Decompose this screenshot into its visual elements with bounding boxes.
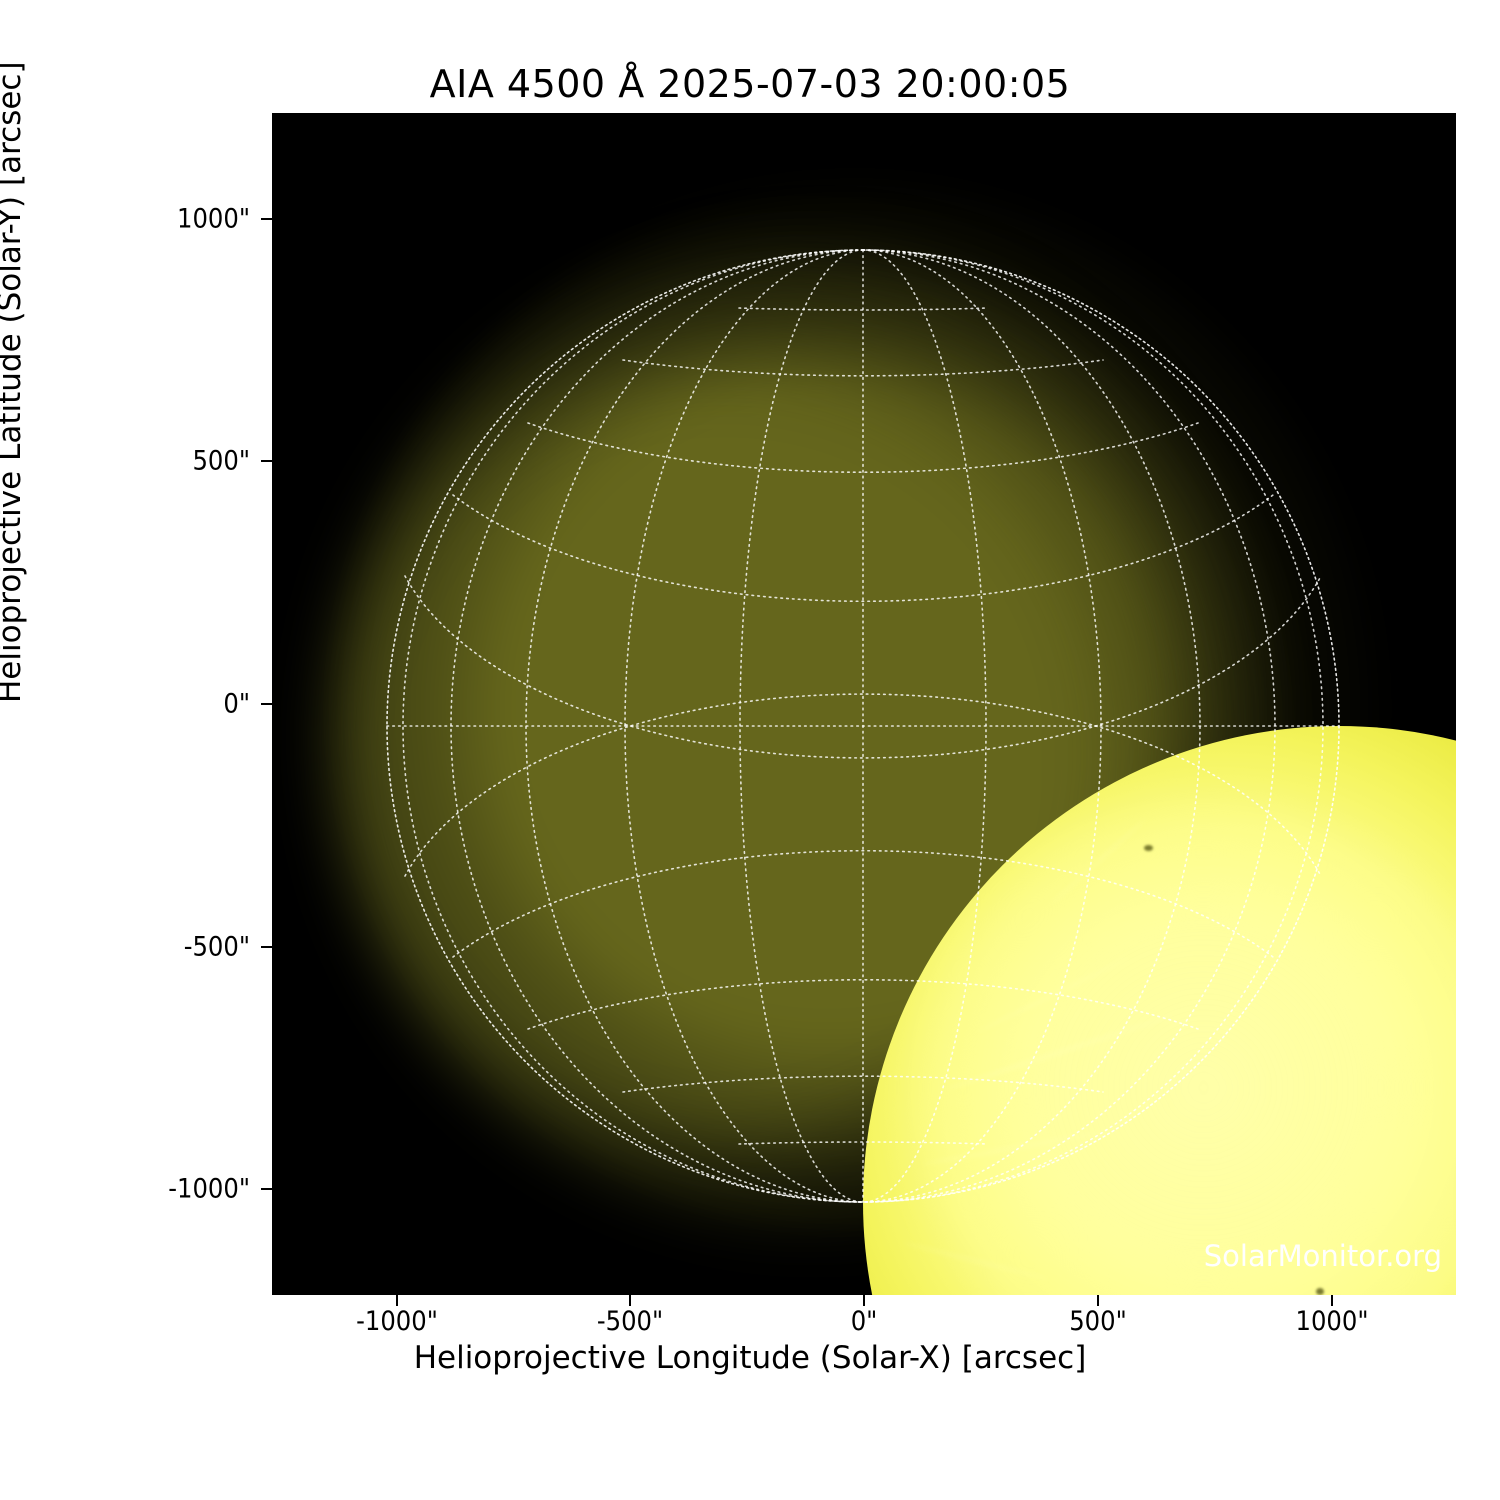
x-tick-label: 500": [1069, 1306, 1127, 1337]
x-tick: [629, 1295, 631, 1306]
parallel-60N: [623, 360, 1103, 376]
x-tick-label: 1000": [1296, 1306, 1369, 1337]
x-tick: [1097, 1295, 1099, 1306]
parallel-15N: [405, 576, 1321, 758]
parallel-45N: [528, 423, 1198, 472]
meridian-30W: [625, 250, 863, 1202]
meridian-15W: [740, 250, 863, 1202]
y-tick: [261, 946, 272, 948]
y-tick-label: -1000": [110, 1174, 250, 1205]
x-tick-label: 0": [851, 1306, 878, 1337]
x-tick-label: -1000": [356, 1306, 438, 1337]
y-axis-title: Helioprojective Latitude (Solar-Y) [arcs…: [0, 61, 28, 703]
x-tick: [863, 1295, 865, 1306]
parallel-30N: [453, 495, 1273, 601]
x-axis-title: Helioprojective Longitude (Solar-X) [arc…: [0, 1340, 1500, 1376]
x-tick: [1331, 1295, 1333, 1306]
y-tick-label: 0": [110, 689, 250, 720]
y-tick: [261, 703, 272, 705]
plot-area[interactable]: SolarMonitor.org: [272, 113, 1456, 1295]
watermark: SolarMonitor.org: [1204, 1239, 1442, 1273]
y-tick: [261, 218, 272, 220]
sunspot: [1144, 845, 1153, 851]
meridian-75W: [403, 250, 863, 1202]
y-tick-label: 500": [110, 446, 250, 477]
x-tick-label: -500": [597, 1306, 663, 1337]
y-tick: [261, 1188, 272, 1190]
meridian-45W: [526, 250, 863, 1202]
meridian-60W: [451, 250, 863, 1202]
y-tick-label: 1000": [110, 204, 250, 235]
x-tick: [396, 1295, 398, 1306]
solar-image-figure: AIA 4500 Å 2025-07-03 20:00:05: [0, 0, 1500, 1500]
y-tick-label: -500": [110, 932, 250, 963]
solar-disk: [863, 726, 1456, 1295]
sunspot-group: [1316, 1288, 1324, 1295]
y-tick: [261, 460, 272, 462]
figure-title: AIA 4500 Å 2025-07-03 20:00:05: [0, 62, 1500, 106]
parallel-75N: [739, 308, 987, 310]
